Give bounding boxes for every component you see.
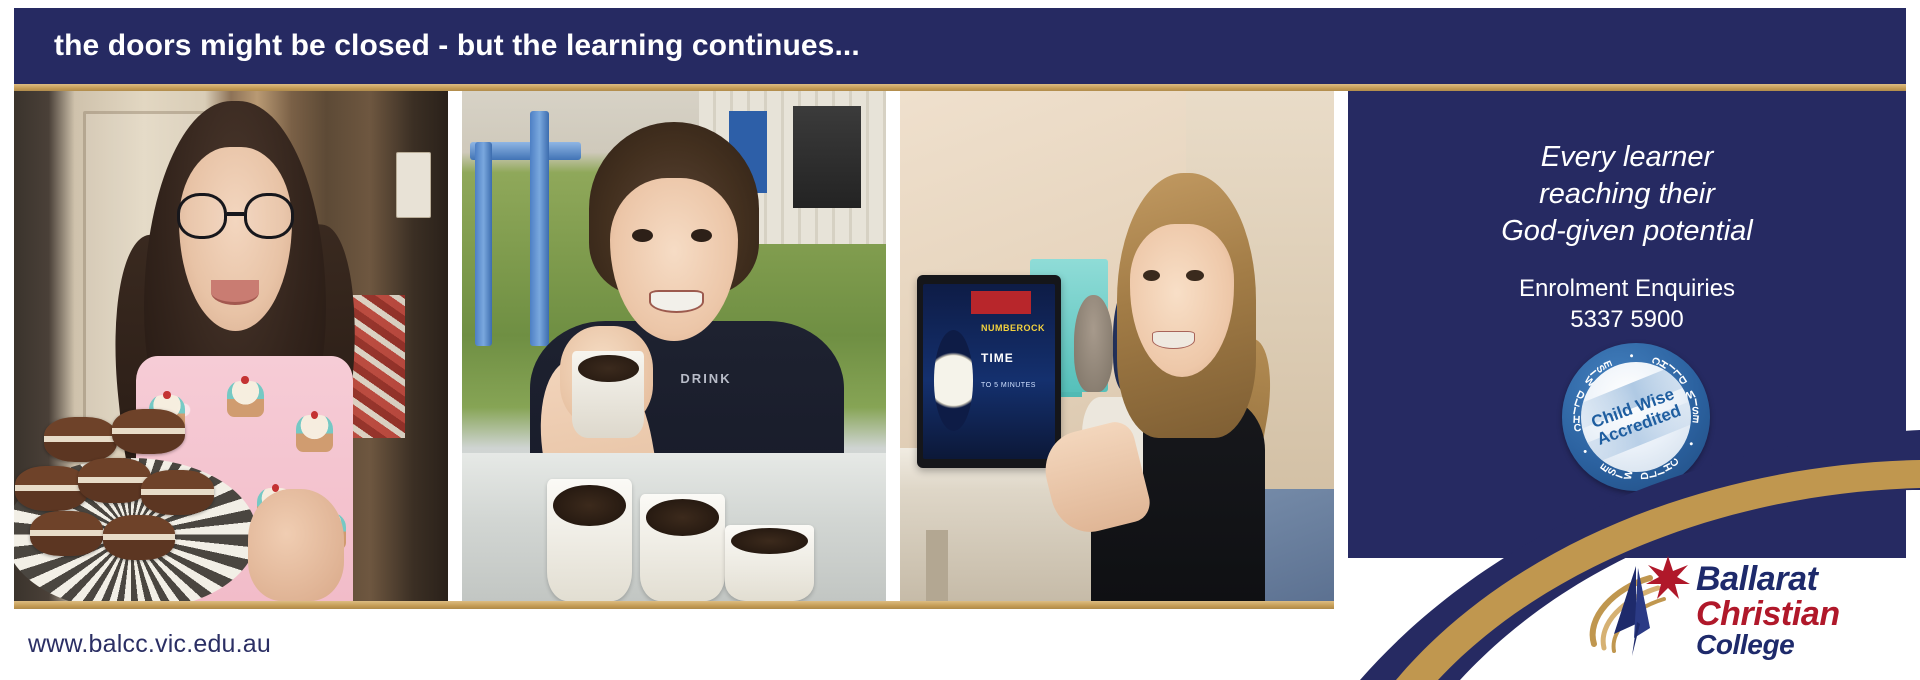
photo3-tablet-screen: NUMBEROCK TIME TO 5 MINUTES [923, 284, 1055, 458]
photo2-seed-cup [547, 479, 632, 601]
enrolment-enquiries: Enrolment Enquiries 5337 5900 [1348, 273, 1906, 335]
logo-wordmark: Ballarat Christian College [1696, 562, 1840, 660]
photo2-trampoline-post [530, 111, 549, 346]
logo-mark-icon [1580, 552, 1700, 664]
photo3-smile [1152, 331, 1195, 349]
photo3-tablet-title: TIME [981, 351, 1014, 365]
photo3-tablet: NUMBEROCK TIME TO 5 MINUTES [917, 275, 1060, 469]
photo3-toy-grey [1074, 295, 1113, 392]
photo2-eye-right [691, 229, 712, 242]
enrolment-label: Enrolment Enquiries [1366, 273, 1888, 304]
photo2-trampoline-post [475, 142, 492, 346]
school-tagline: Every learner reaching their God-given p… [1348, 139, 1906, 250]
photo1-macaron [78, 458, 151, 503]
photo-student-baking-macarons [14, 91, 448, 601]
photo3-tablet-brand: NUMBEROCK [981, 323, 1045, 333]
photo-student-planting-seeds: DRINK [462, 91, 886, 601]
photo1-lens-left [177, 193, 227, 239]
photo1-macaron [15, 466, 88, 511]
enrolment-phone: 5337 5900 [1366, 304, 1888, 335]
photo2-eye-left [632, 229, 653, 242]
photo2-seed-cup [725, 525, 814, 602]
photo1-glasses [177, 193, 294, 239]
photo1-cupcake [296, 415, 333, 452]
photo2-mouth [649, 290, 704, 313]
photo2-seed-cup [640, 494, 725, 601]
photo3-eye-left [1143, 270, 1160, 281]
website-url[interactable]: www.balcc.vic.edu.au [28, 630, 271, 659]
page-title: the doors might be closed - but the lear… [54, 29, 860, 63]
photo3-tablet-banner [971, 291, 1032, 314]
photo3-desk-leg [926, 530, 948, 601]
photo1-macaron-stack [14, 397, 248, 601]
gold-divider-top [14, 84, 1906, 91]
photo3-tablet-subtitle: TO 5 MINUTES [981, 382, 1036, 389]
school-logo[interactable]: Ballarat Christian College [1580, 552, 1910, 672]
photo1-glasses-bridge [227, 212, 243, 216]
logo-line-college: College [1696, 631, 1840, 660]
photo1-macaron [30, 511, 103, 556]
photo3-eye-right [1186, 270, 1203, 281]
logo-line-christian: Christian [1696, 597, 1840, 632]
photo1-lens-right [244, 193, 294, 239]
logo-line-ballarat: Ballarat [1696, 562, 1840, 597]
photo1-hand [248, 489, 343, 601]
photo1-macaron [141, 470, 214, 515]
photo2-dark-object [793, 106, 861, 208]
photo-strip: DRINK [14, 91, 1334, 601]
photo1-macaron [103, 515, 176, 560]
tagline-line-2: reaching their [1366, 176, 1888, 213]
marketing-banner: the doors might be closed - but the lear… [0, 0, 1920, 680]
clock-icon [934, 330, 974, 431]
tagline-line-1: Every learner [1366, 139, 1888, 176]
photo1-wall-switch [396, 152, 431, 218]
photo2-cup-held [572, 351, 644, 438]
photo2-shirt-text: DRINK [680, 371, 787, 433]
photo1-macaron [112, 409, 185, 454]
tagline-line-3: God-given potential [1366, 213, 1888, 250]
photo1-macaron [44, 417, 117, 462]
gold-divider-bottom [14, 601, 1334, 609]
header-band: the doors might be closed - but the lear… [14, 8, 1906, 84]
